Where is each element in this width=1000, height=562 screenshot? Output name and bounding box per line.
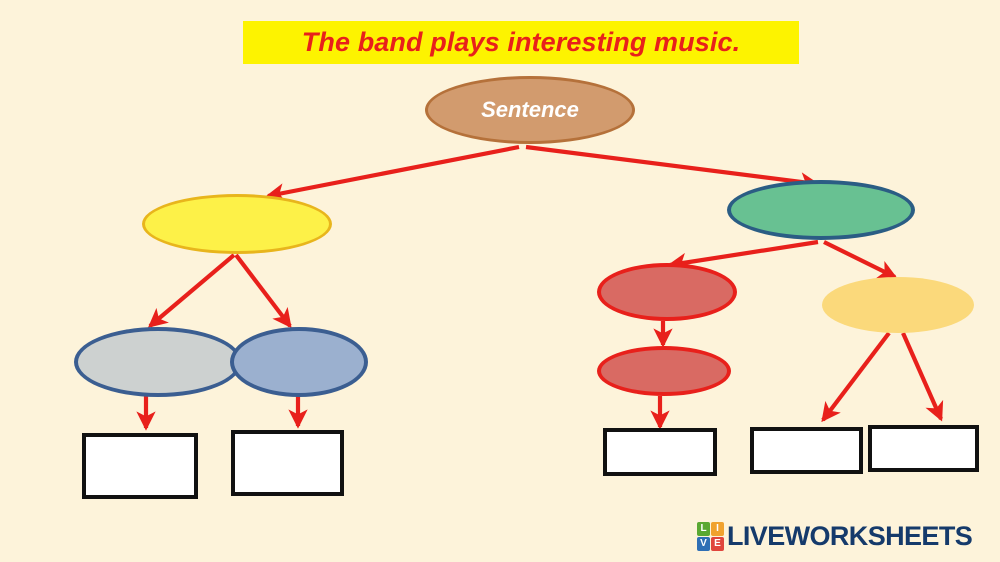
arrow-subject-to-determiner: [150, 255, 234, 326]
arrow-sentence-to-subject: [268, 147, 519, 196]
node-sentence: Sentence: [425, 76, 635, 144]
logo-block-v: V: [697, 537, 710, 551]
arrow-predicate-to-objectphrase: [824, 242, 895, 277]
answer-box-5[interactable]: [868, 425, 979, 472]
node-subject-phrase: [142, 194, 332, 254]
arrow-subject-to-noun: [236, 255, 290, 326]
liveworksheets-logo[interactable]: L I V E LIVEWORKSHEETS: [697, 521, 972, 552]
logo-block-e: E: [711, 537, 724, 551]
sentence-prompt-highlight: The band plays interesting music.: [243, 21, 799, 64]
logo-wordmark: LIVEWORKSHEETS: [727, 521, 972, 552]
answer-box-1[interactable]: [82, 433, 198, 499]
sentence-prompt-text: The band plays interesting music.: [302, 27, 740, 58]
worksheet-canvas: The band plays interesting music. Senten…: [0, 0, 1000, 562]
node-noun: [230, 327, 368, 397]
arrow-objectphrase-to-box-4: [823, 333, 889, 420]
node-determiner: [74, 327, 242, 397]
answer-box-4[interactable]: [750, 427, 863, 474]
arrow-predicate-to-verbphrase: [670, 242, 818, 265]
answer-box-2[interactable]: [231, 430, 344, 496]
logo-block-i: I: [711, 522, 724, 536]
node-sentence-label: Sentence: [481, 97, 579, 123]
logo-block-l: L: [697, 522, 710, 536]
logo-letter-blocks-icon: L I V E: [697, 522, 724, 551]
node-predicate-phrase: [727, 180, 915, 240]
node-verb: [597, 346, 731, 396]
node-object-phrase: [822, 277, 974, 333]
arrow-objectphrase-to-box-5: [903, 333, 941, 419]
node-verb-phrase: [597, 263, 737, 321]
answer-box-3[interactable]: [603, 428, 717, 476]
arrow-sentence-to-predicate: [526, 147, 817, 184]
